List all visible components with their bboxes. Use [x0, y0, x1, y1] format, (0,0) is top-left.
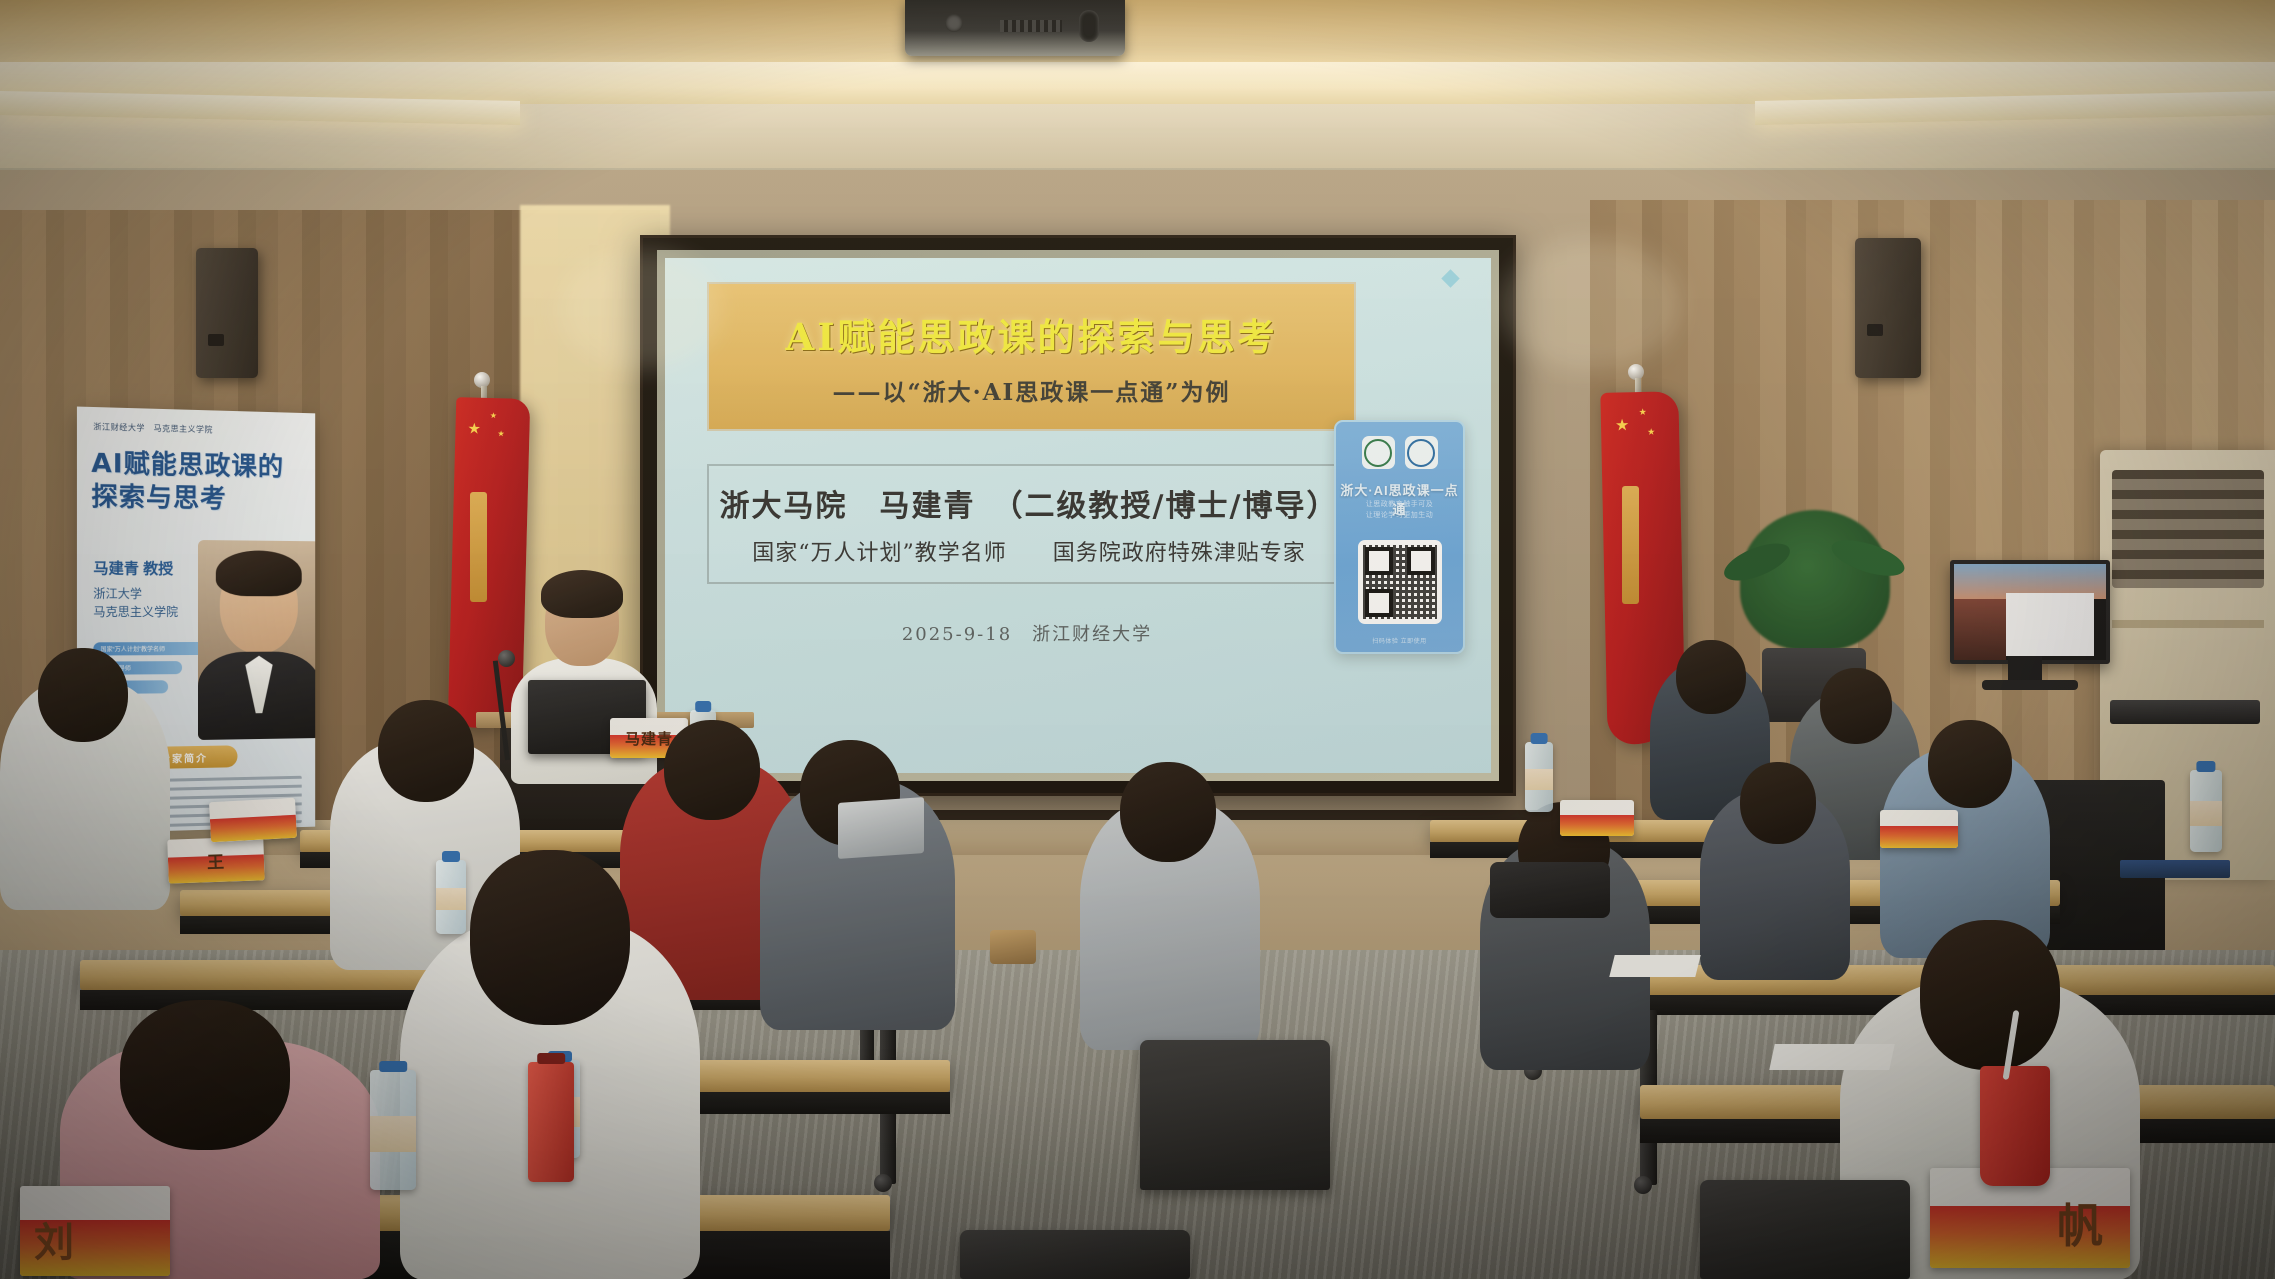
- flag-sleeve-right: [1622, 486, 1639, 604]
- ceiling-projector-icon: [905, 0, 1125, 56]
- slide-presenter-box: 浙大马院 马建青 （二级教授/博士/博导） 国家“万人计划”教学名师 国务院政府…: [707, 464, 1351, 584]
- chair-back: [960, 1230, 1190, 1279]
- projector-lens-icon: [945, 14, 963, 32]
- projector-adjust-knob[interactable]: [1079, 10, 1099, 42]
- flag-sleeve-left: [470, 492, 487, 602]
- nameplate-front-left-2: [209, 798, 297, 842]
- audience-head: [1820, 668, 1892, 744]
- slide-presenter-credentials: 国家“万人计划”教学名师 国务院政府特殊津贴专家: [752, 535, 1306, 567]
- audience-head: [1676, 640, 1746, 714]
- bottle-label: [2190, 801, 2222, 826]
- water-bottle: [1525, 742, 1553, 812]
- institute-logo-icon: [1405, 436, 1438, 469]
- air-conditioner-grille-icon: [2112, 470, 2264, 588]
- red-thermos: [528, 1062, 574, 1182]
- banner-speaker-name: 马建青 教授: [93, 557, 173, 579]
- laptop-bag: [1490, 862, 1610, 918]
- audience-laptop[interactable]: [838, 797, 924, 859]
- bottle-label: [370, 1116, 416, 1152]
- desk-caster: [874, 1174, 892, 1192]
- chinese-flag-left: ★ ★ ★: [448, 397, 531, 729]
- wall-speaker-right-icon: [1855, 238, 1921, 378]
- qr-finder-icon: [1365, 547, 1393, 575]
- bottle-cap: [1531, 733, 1548, 744]
- water-bottle: [436, 860, 466, 934]
- water-bottle: [370, 1070, 416, 1190]
- banner-title: AI赋能思政课的 探索与思考: [91, 448, 305, 517]
- av-control-monitor[interactable]: [1950, 560, 2110, 664]
- audience-head: [378, 700, 474, 802]
- slide-title-band: AI赋能思政课的探索与思考 ——以“浙大·AI思政课一点通”为例: [707, 282, 1356, 431]
- banner-tag-1: 国家“万人计划”教学名师: [93, 642, 204, 656]
- projector-vent: [1000, 20, 1062, 32]
- qr-panel-logos: [1336, 436, 1463, 469]
- projection-screen: AI赋能思政课的探索与思考 ——以“浙大·AI思政课一点通”为例 浙大马院 马建…: [640, 235, 1516, 796]
- qr-finder-icon: [1407, 547, 1435, 575]
- thermos-cap: [537, 1053, 565, 1064]
- nameplate-bottom-left: 刘: [20, 1186, 170, 1276]
- nameplate-front-left-text: 王: [207, 847, 226, 873]
- flag-star-icon: ★: [467, 421, 481, 436]
- bottle-cap: [695, 701, 711, 712]
- bottle-cap: [442, 851, 460, 862]
- nameplate-band: [210, 815, 297, 843]
- wall-speaker-left-icon: [196, 248, 258, 378]
- audience-head: [1740, 762, 1816, 844]
- desk-caster: [1634, 1176, 1652, 1194]
- bottle-cap: [379, 1061, 407, 1072]
- nameplate-front-left: 王: [167, 836, 264, 883]
- drink-cup: [1980, 1066, 2050, 1186]
- podium-nameplate-text: 马建青: [625, 728, 673, 749]
- plant-foliage: [1740, 510, 1890, 650]
- audience-head: [1920, 920, 2060, 1070]
- nameplate-band: [1880, 826, 1958, 848]
- banner-affiliation: 浙江大学 马克思主义学院: [93, 585, 178, 622]
- presenter-hair: [541, 570, 623, 618]
- water-bottle: [2190, 770, 2222, 852]
- banner-affiliation-line-2: 马克思主义学院: [93, 603, 178, 621]
- qr-panel-subtitle: 让思政教育触手可及 让理论学习更加生动: [1336, 500, 1463, 521]
- banner-org-header: 浙江财经大学 马克思主义学院: [93, 421, 213, 435]
- qr-sub-line-2: 让理论学习更加生动: [1336, 511, 1463, 522]
- av-switcher[interactable]: [2110, 700, 2260, 724]
- flag-star-icon: ★: [1647, 428, 1655, 437]
- presentation-slide: AI赋能思政课的探索与思考 ——以“浙大·AI思政课一点通”为例 浙大马院 马建…: [665, 258, 1491, 773]
- bottle-label: [436, 888, 466, 910]
- flag-star-icon: ★: [497, 430, 504, 438]
- monitor-base: [1982, 680, 2078, 690]
- banner-portrait: [198, 540, 315, 740]
- bottle-label: [1525, 769, 1553, 790]
- qr-finder-icon: [1365, 589, 1393, 617]
- slide-qr-panel: 浙大·AI思政课一点通 让思政教育触手可及 让理论学习更加生动 扫码体验 立即使…: [1334, 420, 1465, 654]
- paper-sheet: [1609, 955, 1700, 977]
- monitor-stand: [2008, 656, 2042, 682]
- slide-title: AI赋能思政课的探索与思考: [785, 307, 1277, 361]
- banner-affiliation-line-1: 浙江大学: [93, 585, 178, 603]
- qr-panel-footer: 扫码体验 立即使用: [1336, 636, 1463, 645]
- audience-head: [38, 648, 128, 742]
- monitor-sidebar: [1954, 599, 2006, 660]
- slide-subtitle: ——以“浙大·AI思政课一点通”为例: [832, 373, 1230, 407]
- slide-date-venue: 2025-9-18 浙江财经大学: [707, 620, 1347, 646]
- audience-head: [664, 720, 760, 820]
- qr-sub-line-1: 让思政教育触手可及: [1336, 500, 1463, 511]
- audience-head: [470, 850, 630, 1025]
- paper-sheet: [1769, 1044, 1895, 1070]
- audience-head: [1120, 762, 1216, 862]
- desk-clamp: [990, 930, 1036, 964]
- monitor-window: [2006, 593, 2094, 656]
- chair-back: [1140, 1040, 1330, 1190]
- audience-head: [120, 1000, 290, 1150]
- audience-head: [1928, 720, 2012, 808]
- microphone-icon[interactable]: [498, 650, 515, 667]
- lecture-hall-photo: ★ ★ ★ ★ ★ ★ AI赋能思政课的探索与思考 ——以“浙大·AI思政课一点…: [0, 0, 2275, 1279]
- air-conditioner-seam: [2112, 620, 2264, 628]
- nameplate-bottom-left-text: 刘: [34, 1210, 75, 1268]
- bottle-cap: [2196, 761, 2215, 772]
- banner-title-line-2: 探索与思考: [91, 480, 305, 516]
- ceiling: [0, 0, 2275, 70]
- nameplate-right-mid-2: [1880, 810, 1958, 848]
- qr-code[interactable]: [1358, 540, 1442, 624]
- banner-title-line-1: AI赋能思政课的: [91, 448, 305, 485]
- flag-star-icon: ★: [1639, 408, 1647, 417]
- portrait-hair: [216, 550, 302, 596]
- slide-decor-diamond-icon: [1441, 269, 1459, 287]
- flag-star-icon: ★: [490, 412, 497, 420]
- nameplate-band: [1560, 815, 1634, 836]
- flag-star-icon: ★: [1615, 418, 1630, 434]
- university-logo-icon: [1362, 436, 1395, 469]
- nameplate-right-mid: [1560, 800, 1634, 836]
- light-bloom: [1500, 240, 1680, 370]
- nameplate-bottom-right-text: 帆: [2057, 1190, 2104, 1256]
- slide-presenter-name: 浙大马院 马建青 （二级教授/博士/博导）: [720, 481, 1339, 525]
- chair-back: [1700, 1180, 1910, 1279]
- notebook: [2120, 860, 2230, 878]
- light-bloom: [560, 250, 720, 370]
